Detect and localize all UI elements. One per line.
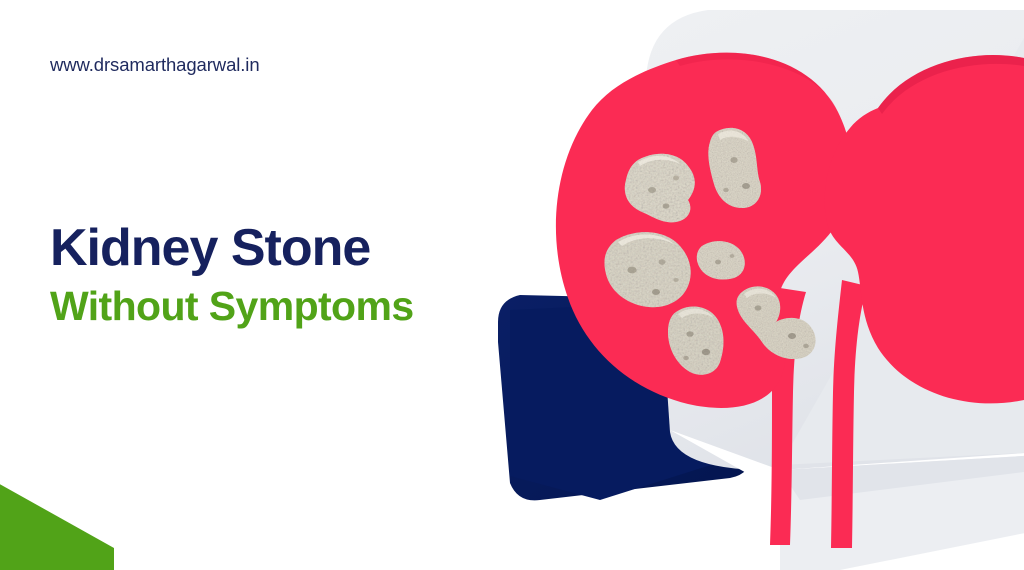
headline-block: Kidney Stone Without Symptoms: [50, 222, 480, 328]
site-url-text: www.drsamarthagarwal.in: [50, 54, 260, 76]
page-title: Kidney Stone: [50, 222, 480, 276]
kidney-stones-illustration: [480, 0, 1024, 570]
page-subtitle: Without Symptoms: [50, 285, 480, 328]
promo-banner: www.drsamarthagarwal.in Kidney Stone Wit…: [0, 0, 1024, 570]
green-hexagon-accent: [0, 484, 114, 570]
